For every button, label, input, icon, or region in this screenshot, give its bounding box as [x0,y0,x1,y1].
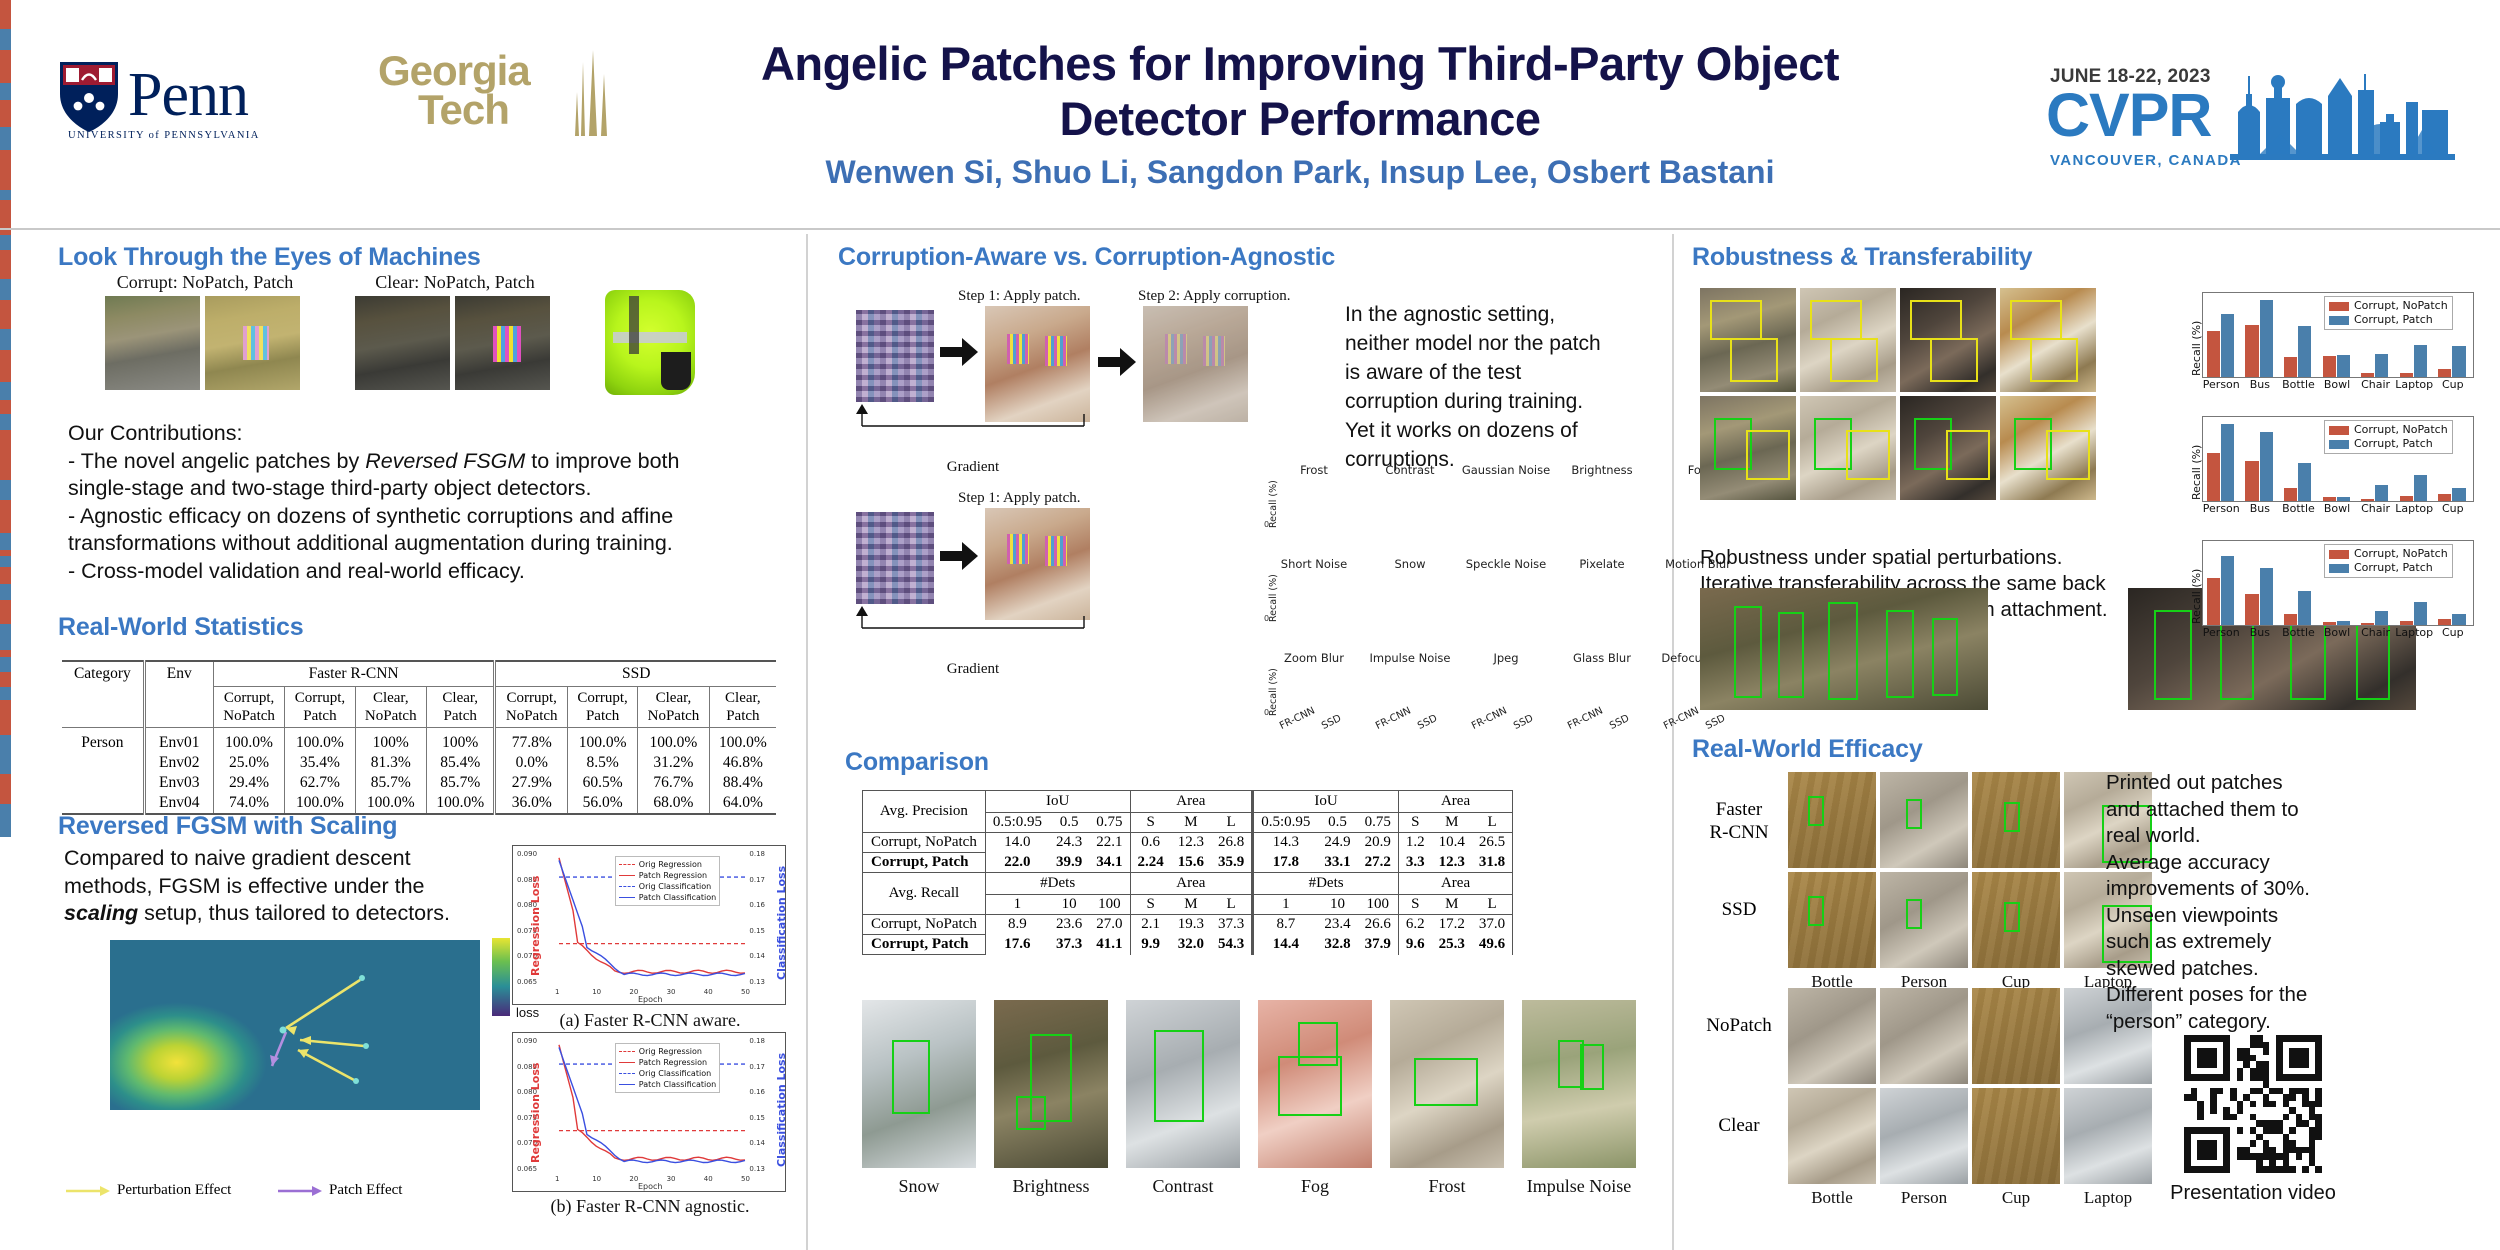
bar-patch [2414,475,2427,501]
th-group: IoU [1253,791,1399,813]
th-col: 100 [1358,895,1399,915]
bar-nopatch [2361,623,2374,625]
loss-xtick: 1 [555,988,559,996]
loss-ylabel-left: Regression Loss [529,1063,542,1163]
efficacy-image [1880,872,1968,968]
comparison-image-fog [1258,1000,1372,1168]
bar [0,735,11,774]
bar [0,650,11,657]
th-col: M [1171,813,1211,833]
real-world-statistics-table: CategoryEnvFaster R-CNNSSDCorrupt,NoPatc… [62,660,776,815]
cvpr-city: VANCOUVER, CANADA [2050,152,2242,169]
efficacy-image [2064,1088,2152,1184]
robustness-image [1900,288,1996,392]
section-comparison: Comparison [845,748,989,777]
bar-patch [2221,424,2234,501]
xtick-ssd: SSD [1704,713,1727,732]
subplot-title: Speckle Noise [1458,557,1554,571]
image-corrupt-patch [205,296,300,390]
bar-nopatch [2284,357,2297,377]
caption-plot-b: (b) Faster R-CNN agnostic. [505,1196,795,1217]
loss-xtick: 20 [629,988,638,996]
subplot-ylabel: Recall (%) [1268,480,1279,528]
td-value: 0.6 [1130,833,1171,853]
td-env: Env04 [144,793,213,814]
bar [0,500,11,533]
recall-xtick: Bus [2241,378,2280,391]
th-col: M [1432,813,1472,833]
th-sub-1: Corrupt,Patch [285,687,355,728]
bar-patch [2414,602,2427,625]
recall-xtick: Laptop [2395,502,2434,515]
bar-nopatch [2323,622,2336,625]
gradient-bracket-2: Gradient [856,606,1090,656]
td-value: 56.0% [568,793,638,814]
penn-wordmark: Penn [128,64,248,126]
td-value: 10.4 [1432,833,1472,853]
bar [0,657,11,672]
efficacy-image [1788,1088,1876,1184]
comparison-table: Avg. PrecisionIoUAreaIoUArea0.5:0.950.50… [862,790,1513,955]
bar-nopatch [2207,453,2220,501]
td-value: 27.9% [495,773,568,793]
recall-xtick: Cup [2433,378,2472,391]
td-value: 32.8 [1317,935,1357,955]
image-safety-vest [605,290,695,395]
bar-nopatch [2400,621,2413,625]
subplot-ylabel: Recall (%) [1268,574,1279,622]
subplot-title: Frost [1266,463,1362,477]
bar-nopatch [2400,373,2413,377]
bar [0,774,11,804]
recall-xtick: Bus [2241,626,2280,639]
th-group: #Dets [985,873,1130,895]
column-divider-2 [1672,234,1674,1250]
comparison-image-contrast [1126,1000,1240,1168]
agnostic-description: In the agnostic setting, neither model n… [1345,300,1645,474]
eff-line-9: Different poses for the [2106,982,2436,1009]
bar-patch [2375,354,2388,377]
td-value: 2.24 [1130,853,1171,873]
subplot-speckle-noise [0,350,76,400]
td-value: 100.0% [638,728,710,754]
recall-legend: Corrupt, NoPatchCorrupt, Patch [2324,544,2453,578]
bar [0,556,11,568]
xtick-ssd: SSD [1320,713,1343,732]
step-2-label: Step 2: Apply corruption. [1138,288,1318,305]
efficacy-row-label: SSD [1696,898,1782,921]
bar [0,450,11,480]
td-value: 34.1 [1089,853,1130,873]
subplot-title: Short Noise [1266,557,1362,571]
td-value: 36.0% [495,793,568,814]
caption-corrupt: Corrupt: NoPatch, Patch [90,272,320,293]
th-col: 0.75 [1358,813,1399,833]
recall-ylabel: Recall (%) [2190,569,2203,624]
bar-nopatch [2245,461,2258,501]
agnostic-line-3: is aware of the test [1345,358,1645,387]
recall-xtick: Cup [2433,502,2472,515]
th-col: 10 [1317,895,1357,915]
robustness-image [1700,396,1796,500]
robustness-image [1800,288,1896,392]
efficacy-image [1972,872,2060,968]
yellow-arrow-icon [66,1186,110,1196]
th-sub-6: Clear,NoPatch [638,687,710,728]
td-value: 37.3 [1211,915,1253,935]
comparison-image-impulse-noise [1522,1000,1636,1168]
td-value: 23.4 [1317,915,1357,935]
corrupted-patched-image [1143,306,1248,422]
th-col: L [1211,813,1253,833]
td-value: 74.0% [213,793,285,814]
vancouver-skyline-icon [2230,68,2455,160]
td-value: 25.0% [213,753,285,773]
efficacy-image [1880,1088,1968,1184]
ytick-0: 0 [1264,708,1269,717]
td-value: 35.9 [1211,853,1253,873]
loss-ytick-right: 0.14 [749,1139,765,1147]
section-real-world-efficacy: Real-World Efficacy [1692,735,1923,764]
section-look-through-eyes: Look Through the Eyes of Machines [58,243,481,272]
loss-landscape-visualization [110,940,480,1110]
xtick-frcnn: FR-CNN [1374,705,1413,731]
comparison-image-brightness [994,1000,1108,1168]
efficacy-row-label: Clear [1696,1114,1782,1137]
loss-xlabel: Epoch [638,995,663,1004]
penn-logo: Penn UNIVERSITY of PENNSYLVANIA [58,60,338,138]
td-row-label: Corrupt, NoPatch [863,915,986,935]
loss-ytick-left: 0.065 [517,1165,537,1173]
robust-line-1: Robustness under spatial perturbations. [1700,545,2170,571]
arrow-right-icon-3 [940,542,978,570]
td-value: 17.8 [1253,853,1318,873]
bar [0,672,11,687]
recall-xtick: Chair [2356,502,2395,515]
th-sub-2: Clear,NoPatch [355,687,427,728]
td-value: 60.5% [568,773,638,793]
subplot-title: Impulse Noise [1362,651,1458,665]
recall-xtick: Chair [2356,378,2395,391]
bar-patch [2452,614,2465,625]
legend-item-nopatch: Corrupt, NoPatch [2329,299,2448,313]
legend-orig-classification: Orig Classification [619,881,716,892]
recall-xtick: Bowl [2318,626,2357,639]
bar [0,700,11,735]
td-row-label: Corrupt, Patch [863,935,986,955]
loss-ylabel-left: Regression Loss [529,876,542,976]
patch-noise-image-1 [856,310,934,402]
column-divider-1 [806,234,808,1250]
legend-patch-label: Patch Effect [329,1182,402,1199]
td-value: 1.2 [1398,833,1431,853]
td-value: 100.0% [213,728,285,754]
th-col: L [1472,813,1513,833]
bar-nopatch [2207,331,2220,377]
efficacy-image [1788,872,1876,968]
bar-patch [2298,591,2311,625]
contribution-2: - Agnostic efficacy on dozens of synthet… [68,503,788,531]
recall-xtick: Bowl [2318,502,2357,515]
gradient-arrow-icon-2 [856,606,1090,634]
efficacy-image [1972,1088,2060,1184]
step-1-label-bottom: Step 1: Apply patch. [958,490,1138,507]
poster-root: Penn UNIVERSITY of PENNSYLVANIA Georgia … [0,0,2500,1250]
fgsm-line-3: scaling setup, thus tailored to detector… [64,900,534,928]
legend-orig-classification: Orig Classification [619,1068,716,1079]
td-value: 85.4% [427,753,495,773]
gradient-label-1: Gradient [856,459,1090,476]
image-clear-patch [455,296,550,390]
td-value: 9.9 [1130,935,1171,955]
legend-item-nopatch: Corrupt, NoPatch [2329,423,2448,437]
td-value: 12.3 [1432,853,1472,873]
recall-xtick: Laptop [2395,378,2434,391]
td-value: 8.7 [1253,915,1318,935]
recall-xtick: Bottle [2279,378,2318,391]
td-value: 33.1 [1317,853,1357,873]
td-row-label: Corrupt, NoPatch [863,833,986,853]
th-col: 0.75 [1089,813,1130,833]
cvpr-logo: JUNE 18-22, 2023 CVPR VANCOUVER, CANADA [2040,48,2460,178]
th-col: 1 [1253,895,1318,915]
efficacy-image [1880,988,1968,1084]
td-value: 25.3 [1432,935,1472,955]
subplot-title: Glass Blur [1554,651,1650,665]
fgsm-description: Compared to naive gradient descent metho… [64,845,534,928]
subplot-pixelate [0,400,76,450]
bar-nopatch [2361,373,2374,377]
loss-ytick-right: 0.15 [749,1114,765,1122]
bar [0,600,11,624]
loss-ytick-left: 0.090 [517,850,537,858]
bar-patch [2221,556,2234,625]
loss-ytick-right: 0.15 [749,927,765,935]
recall-xtick: Person [2202,378,2241,391]
robustness-image [1800,396,1896,500]
recall-xticks: PersonBusBottleBowlChairLaptopCup [2202,378,2472,391]
th-col: 1 [985,895,1049,915]
loss-xtick: 30 [667,1175,676,1183]
td-value: 26.5 [1472,833,1513,853]
fgsm-line-1: Compared to naive gradient descent [64,845,534,873]
td-value: 8.9 [985,915,1049,935]
eff-line-10: “person” category. [2106,1009,2436,1036]
td-value: 31.8 [1472,853,1513,873]
td-env: Env03 [144,773,213,793]
th-col: S [1398,813,1431,833]
td-value: 39.9 [1049,853,1089,873]
section-real-world-statistics: Real-World Statistics [58,613,303,642]
td-category [62,773,144,793]
contribution-1-cont: single-stage and two-stage third-party o… [68,475,788,503]
subplot-title: Snow [1362,557,1458,571]
td-category [62,753,144,773]
recall-ylabel: Recall (%) [2190,445,2203,500]
ytick-0: 0 [1264,614,1269,623]
header-divider [0,228,2500,230]
legend-patch-classification: Patch Classification [619,892,716,903]
caption-clear: Clear: NoPatch, Patch [340,272,570,293]
comparison-caption: Fog [1244,1176,1386,1197]
contributions-heading: Our Contributions: [68,420,788,448]
td-env: Env02 [144,753,213,773]
bar-nopatch [2438,619,2451,625]
caption-plot-a: (a) Faster R-CNN aware. [505,1010,795,1031]
bar-patch [2337,355,2350,377]
subplot-title: Pixelate [1554,557,1650,571]
legend-item-patch: Corrupt, Patch [2329,313,2448,327]
bar [0,400,11,414]
bar-patch [2337,621,2350,625]
loss-plot-aware: 0.0900.0850.0800.0750.0700.0650.180.170.… [512,845,786,1005]
eff-line-2: and attached them to [2106,797,2436,824]
bar-nopatch [2323,356,2336,377]
td-value: 20.9 [1358,833,1399,853]
recall-ylabel: Recall (%) [2190,321,2203,376]
section-reversed-fgsm: Reversed FGSM with Scaling [58,812,397,841]
bar-patch [2452,488,2465,501]
recall-xticks: PersonBusBottleBowlChairLaptopCup [2202,626,2472,639]
td-value: 31.2% [638,753,710,773]
bar [0,567,11,584]
loss-ytick-right: 0.18 [749,1037,765,1045]
loss-ytick-right: 0.18 [749,850,765,858]
bar-nopatch [2245,325,2258,377]
fgsm-line-2: methods, FGSM is effective under the [64,873,534,901]
poster-header: Penn UNIVERSITY of PENNSYLVANIA Georgia … [0,0,2500,228]
td-value: 100.0% [709,728,776,754]
robustness-image [2000,396,2096,500]
xtick-frcnn: FR-CNN [1662,705,1701,731]
penn-subtitle: UNIVERSITY of PENNSYLVANIA [68,130,260,141]
recall-xtick: Person [2202,502,2241,515]
step-1-label-top: Step 1: Apply patch. [958,288,1128,305]
td-value: 24.9 [1317,833,1357,853]
td-value: 32.0 [1171,935,1211,955]
td-value: 26.6 [1358,915,1399,935]
title-line-1: Angelic Patches for Improving Third-Part… [640,36,1960,91]
loss-xtick: 40 [704,988,713,996]
xtick-frcnn: FR-CNN [1566,705,1605,731]
georgia-tech-logo: Georgia Tech [378,52,608,134]
recall-legend: Corrupt, NoPatchCorrupt, Patch [2324,296,2453,330]
recall-legend: Corrupt, NoPatchCorrupt, Patch [2324,420,2453,454]
comparison-image-snow [862,1000,976,1168]
td-value: 19.3 [1171,915,1211,935]
loss-xtick: 50 [741,988,750,996]
transfer-image-left [1700,588,1988,710]
subplot-title: Zoom Blur [1266,651,1362,665]
subplot-impulse-noise [0,550,76,600]
robustness-image [1900,396,1996,500]
landscape-colorbar [492,938,510,1016]
legend-patch-regression: Patch Regression [619,870,716,881]
bar-nopatch [2207,578,2220,625]
loss-xtick: 40 [704,1175,713,1183]
bar [0,430,11,452]
title-line-2: Detector Performance [640,91,1960,146]
loss-ytick-left: 0.090 [517,1037,537,1045]
td-value: 22.0 [985,853,1049,873]
th-sub-4: Corrupt,NoPatch [495,687,568,728]
td-value: 8.5% [568,753,638,773]
subplot-title: Gaussian Noise [1458,463,1554,477]
xtick-ssd: SSD [1608,713,1631,732]
td-category [62,793,144,814]
th-col: 100 [1089,895,1130,915]
loss-ytick-right: 0.13 [749,978,765,986]
bar-patch [2452,346,2465,377]
arrow-right-icon-2 [1098,348,1136,376]
agnostic-line-5: Yet it works on dozens of [1345,416,1645,445]
th-col: 0.5 [1317,813,1357,833]
qr-caption: Presentation video [2120,1182,2386,1205]
td-value: 88.4% [709,773,776,793]
ytick-0: 0 [1264,520,1269,529]
efficacy-image [1972,988,2060,1084]
td-value: 100.0% [355,793,427,814]
td-value: 26.8 [1211,833,1253,853]
loss-plot-agnostic: 0.0900.0850.0800.0750.0700.0650.180.170.… [512,1032,786,1192]
eff-line-1: Printed out patches [2106,770,2436,797]
td-value: 46.8% [709,753,776,773]
td-value: 100.0% [285,793,355,814]
th-col: L [1211,895,1253,915]
subplot-ylabel: Recall (%) [1268,668,1279,716]
loss-ytick-left: 0.065 [517,978,537,986]
th-col: L [1472,895,1513,915]
bar-patch [2298,326,2311,377]
comparison-image-frost [1390,1000,1504,1168]
td-value: 17.2 [1432,915,1472,935]
image-corrupt-nopatch [105,296,200,390]
bar-patch [2221,314,2234,378]
gradient-arrow-icon-1 [856,404,1090,432]
penn-shield-icon [58,60,120,134]
td-value: 6.2 [1398,915,1431,935]
legend-patch-classification: Patch Classification [619,1079,716,1090]
landscape-arrows [110,940,480,1110]
td-value: 3.3 [1398,853,1431,873]
legend-item-patch: Corrupt, Patch [2329,437,2448,451]
recall-xtick: Bottle [2279,626,2318,639]
recall-xtick: Bottle [2279,502,2318,515]
th-group: Area [1130,873,1253,895]
th-env: Env [144,661,213,687]
subplot-title: Brightness [1554,463,1650,477]
legend-perturbation-effect: Perturbation Effect [66,1182,231,1199]
th-faster-rcnn: Faster R-CNN [213,661,495,687]
loss-legend: Orig RegressionPatch RegressionOrig Clas… [615,856,720,906]
th-group: #Dets [1253,873,1399,895]
patch-noise-image-2 [856,512,934,604]
contribution-3: - Cross-model validation and real-world … [68,558,788,586]
th-group: Area [1398,791,1512,813]
legend-orig-regression: Orig Regression [619,859,716,870]
th-ap-label: Avg. Precision [863,791,986,833]
bar-nopatch [2284,614,2297,625]
td-value: 62.7% [285,773,355,793]
bar-patch [2260,568,2273,625]
recall-xtick: Cup [2433,626,2472,639]
bar-nopatch [2400,496,2413,501]
qr-code[interactable] [2184,1035,2322,1173]
agnostic-line-1: In the agnostic setting, [1345,300,1645,329]
eff-line-5: improvements of 30%. [2106,876,2436,903]
efficacy-row-label: FasterR-CNN [1696,798,1782,844]
td-value: 23.6 [1049,915,1089,935]
